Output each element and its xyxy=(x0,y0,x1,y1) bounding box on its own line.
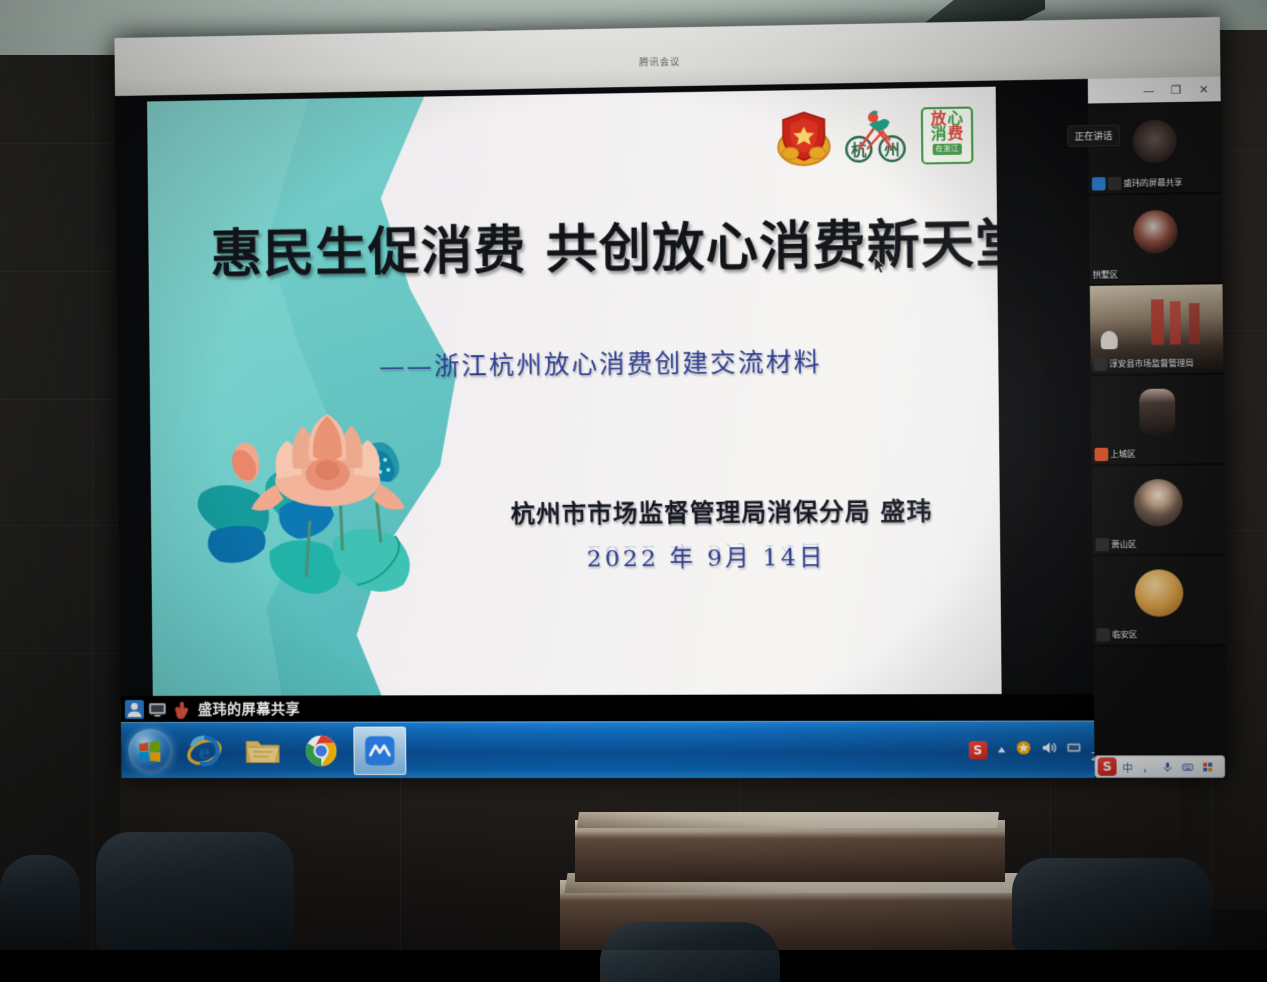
avatar xyxy=(1132,120,1177,164)
monitor-badge-icon xyxy=(1108,177,1122,191)
hand-badge-icon xyxy=(1096,628,1110,641)
chair-front xyxy=(600,922,780,982)
lotus-illustration xyxy=(178,378,483,611)
hand-badge-icon xyxy=(1095,538,1109,551)
windows-taskbar[interactable]: e xyxy=(121,720,1158,778)
screen-share-label-bar: 盛玮的屏幕共享 xyxy=(121,694,1157,722)
security-shield-icon[interactable] xyxy=(1015,740,1031,760)
sogou-ime-tray-icon[interactable]: S xyxy=(968,741,987,759)
show-hidden-icons-icon[interactable] xyxy=(996,741,1006,759)
participant-tile[interactable]: 拱墅区 xyxy=(1089,194,1223,286)
screen-share-label: 盛玮的屏幕共享 xyxy=(198,699,300,719)
screen-content: 杭 州 xyxy=(115,77,1227,778)
window-controls[interactable]: — ❐ ✕ xyxy=(1088,77,1221,104)
avatar xyxy=(1135,569,1184,616)
participant-name: 临安区 xyxy=(1112,629,1137,640)
chinese-mode-icon[interactable]: 中 xyxy=(1119,758,1137,775)
conference-room: 腾讯会议 xyxy=(0,0,1267,950)
slide-title: 惠民生促消费 共创放心消费新天堂 xyxy=(210,201,989,287)
minimize-icon[interactable]: — xyxy=(1136,80,1161,101)
badge-char-fei: 费 xyxy=(948,126,964,142)
projection-screen: 腾讯会议 xyxy=(114,17,1227,778)
hand-badge-icon xyxy=(1094,357,1108,370)
presentation-slide: 杭 州 xyxy=(147,87,1002,710)
participant-name: 萧山区 xyxy=(1111,539,1136,550)
maximize-icon[interactable]: ❐ xyxy=(1163,79,1189,100)
taskbar-google-chrome[interactable] xyxy=(295,726,348,774)
slide-presenter: 杭州市市场监督管理局消保分局 盛玮 xyxy=(510,490,1001,529)
avatar xyxy=(1133,210,1178,254)
participant-tile[interactable]: 盛玮的屏幕共享 xyxy=(1088,103,1222,195)
participant-tile[interactable]: 临安区 xyxy=(1092,556,1226,647)
badge-char-xiao: 消 xyxy=(931,126,947,142)
mic-icon[interactable] xyxy=(1159,758,1177,775)
slide-subtitle: ——浙江杭州放心消费创建交流材料 xyxy=(379,340,1002,383)
chair xyxy=(96,832,294,950)
speaking-tooltip: 正在讲话 xyxy=(1067,125,1120,147)
sogou-input-method-bar[interactable]: S 中 ， xyxy=(1094,755,1225,778)
participants-rail[interactable]: — ❐ ✕ 正在讲话 盛玮的屏幕共享 xyxy=(1088,77,1228,778)
taskbar-internet-explorer[interactable]: e xyxy=(178,726,231,774)
desk-top-far xyxy=(577,812,999,828)
punctuation-icon[interactable]: ， xyxy=(1139,758,1157,775)
fangxin-xiaofei-badge-icon: 放 心 消 费 在浙江 xyxy=(921,106,974,164)
participant-name-row: 淳安县市场监督管理局 xyxy=(1094,357,1194,371)
svg-text:州: 州 xyxy=(883,140,900,159)
close-icon[interactable]: ✕ xyxy=(1191,79,1217,100)
mouse-cursor-icon xyxy=(874,257,887,276)
user-badge-icon xyxy=(1095,448,1109,461)
participant-name-row: 萧山区 xyxy=(1095,538,1136,552)
taskbar-windows-explorer[interactable] xyxy=(236,726,289,774)
slide-date-reflection: 2022 年 9月 14日 xyxy=(587,540,1001,561)
avatar xyxy=(1134,479,1183,527)
avatar xyxy=(1139,389,1175,437)
conference-desk-far xyxy=(575,820,1005,882)
volume-icon[interactable] xyxy=(1040,739,1056,759)
participant-name-row: 上城区 xyxy=(1095,447,1136,461)
user-badge-icon xyxy=(1092,177,1106,191)
keyboard-icon[interactable] xyxy=(1179,758,1197,775)
hand-icon xyxy=(171,699,190,718)
participant-name-row: 拱墅区 xyxy=(1093,269,1118,281)
user-icon xyxy=(125,699,144,718)
participant-tile[interactable]: 萧山区 xyxy=(1092,465,1226,556)
participant-tile[interactable]: 淳安县市场监督管理局 xyxy=(1090,284,1224,376)
slide-logo-row: 杭 州 xyxy=(776,105,974,167)
svg-text:e: e xyxy=(199,742,211,763)
chair xyxy=(1012,858,1212,950)
participant-tile[interactable]: 上城区 xyxy=(1091,375,1225,467)
hangzhou-cyclist-icon: 杭 州 xyxy=(844,108,909,166)
participant-name-row: 临安区 xyxy=(1096,628,1137,641)
monitor-icon xyxy=(148,699,167,718)
network-icon[interactable] xyxy=(1066,739,1082,760)
sogou-logo-icon[interactable]: S xyxy=(1098,757,1117,775)
participant-name: 盛玮的屏幕共享 xyxy=(1123,177,1182,189)
taskbar-tencent-meeting[interactable] xyxy=(353,726,406,774)
toolbox-icon[interactable] xyxy=(1199,758,1217,775)
participant-name-row: 盛玮的屏幕共享 xyxy=(1092,176,1183,191)
participant-name: 淳安县市场监督管理局 xyxy=(1109,358,1193,370)
chair xyxy=(0,855,80,950)
samr-emblem-icon xyxy=(776,108,832,168)
app-title: 腾讯会议 xyxy=(639,54,680,68)
badge-bar-label: 在浙江 xyxy=(932,143,962,155)
shared-screen-area: 杭 州 xyxy=(147,87,1002,710)
participant-name: 上城区 xyxy=(1110,449,1135,460)
start-button[interactable] xyxy=(128,728,172,772)
participant-name: 拱墅区 xyxy=(1093,269,1118,281)
